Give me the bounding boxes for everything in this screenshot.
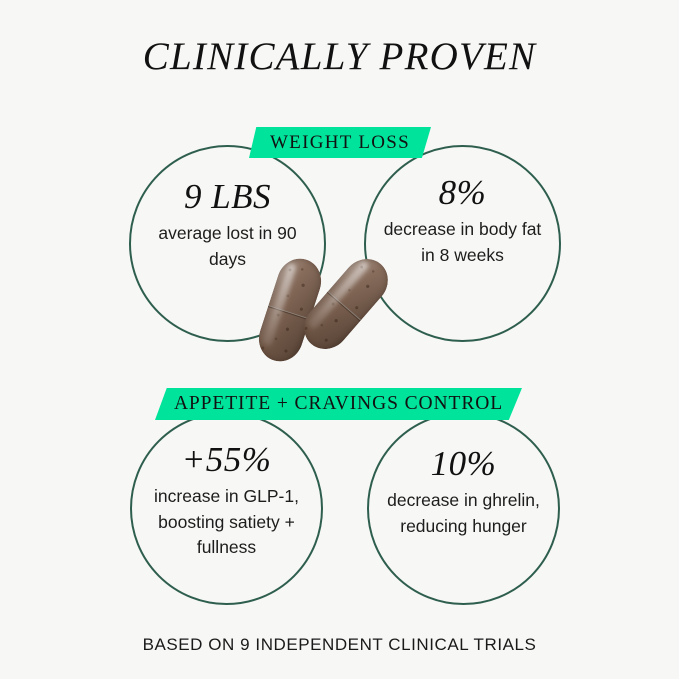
section-banner-weight-loss: WEIGHT LOSS <box>249 127 431 158</box>
stat-circle-glp1: +55% increase in GLP-1, boosting satiety… <box>130 412 323 605</box>
infographic-root: CLINICALLY PROVEN 9 LBS average lost in … <box>0 0 679 679</box>
stat-circle-content: +55% increase in GLP-1, boosting satiety… <box>132 442 321 561</box>
page-title: CLINICALLY PROVEN <box>0 34 679 79</box>
stat-circle-ghrelin: 10% decrease in ghrelin, reducing hunger <box>367 412 560 605</box>
stat-description: increase in GLP-1, boosting satiety + fu… <box>142 484 311 562</box>
capsule-group <box>250 245 410 385</box>
stat-description: decrease in ghrelin, reducing hunger <box>379 488 548 540</box>
footer-disclaimer: BASED ON 9 INDEPENDENT CLINICAL TRIALS <box>0 635 679 655</box>
stat-value: 10% <box>379 446 548 482</box>
section-banner-appetite-cravings: APPETITE + CRAVINGS CONTROL <box>155 388 522 420</box>
stat-circle-content: 10% decrease in ghrelin, reducing hunger <box>369 446 558 539</box>
stat-value: +55% <box>142 442 311 478</box>
stat-value: 9 LBS <box>141 179 314 215</box>
stat-value: 8% <box>376 175 549 211</box>
